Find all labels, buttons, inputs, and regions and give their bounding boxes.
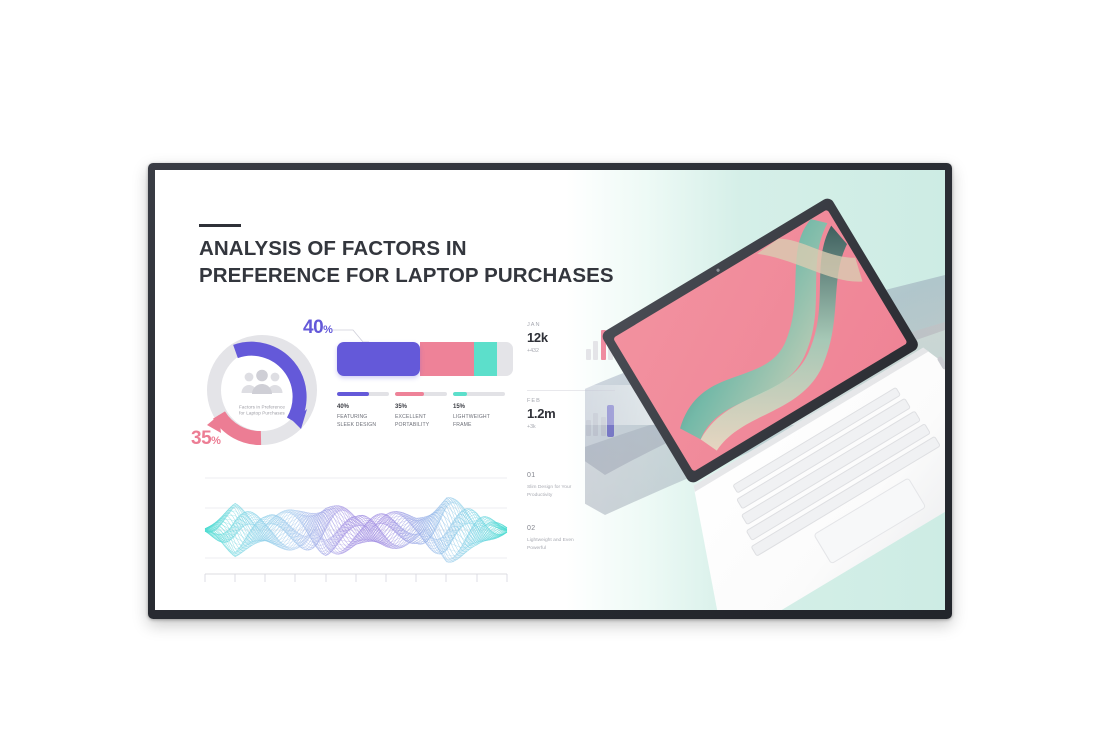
legend-fill (453, 392, 467, 396)
legend-label: LIGHTWEIGHT FRAME (453, 414, 511, 430)
donut-arc-portability (219, 415, 261, 438)
waveform-ticks (205, 574, 507, 582)
legend-percent: 15% (453, 404, 511, 410)
legend-label: FEATURING SLEEK DESIGN (337, 414, 395, 430)
donut-label-40-symbol: % (323, 324, 332, 336)
page-title-line-2: PREFERENCE FOR LAPTOP PURCHASES (199, 263, 619, 290)
legend-label-line-1: LIGHTWEIGHT (453, 414, 511, 422)
monitor-bezel: ANALYSIS OF FACTORS IN PREFERENCE FOR LA… (148, 163, 952, 619)
legend-track (395, 392, 447, 396)
people-group-icon (240, 369, 284, 395)
title-accent-rule (199, 224, 241, 227)
legend-track (453, 392, 505, 396)
legend-track (337, 392, 389, 396)
legend-item-sleek-design: 40% FEATURING SLEEK DESIGN (337, 392, 395, 430)
laptop-illustration (585, 170, 945, 610)
legend-item-portability: 35% EXCELLENT PORTABILITY (395, 392, 453, 430)
waveform-chart-svg (197, 466, 515, 594)
laptop-product-image (585, 170, 945, 610)
donut-center-label: Factors in Preference for Laptop Purchas… (218, 404, 306, 417)
donut-label-40-percent: 40% (303, 317, 332, 339)
stacked-bar-segment-sleek-design (337, 342, 420, 376)
legend-percent: 35% (395, 404, 453, 410)
monitor-screen: ANALYSIS OF FACTORS IN PREFERENCE FOR LA… (155, 170, 945, 610)
presentation-slide: ANALYSIS OF FACTORS IN PREFERENCE FOR LA… (155, 170, 945, 610)
legend-label-line-2: SLEEK DESIGN (337, 422, 395, 430)
legend-label-line-2: FRAME (453, 422, 511, 430)
page-title: ANALYSIS OF FACTORS IN PREFERENCE FOR LA… (199, 236, 619, 289)
donut-label-35-percent: 35% (191, 428, 220, 450)
donut-label-35-symbol: % (211, 435, 220, 447)
legend-label-line-2: PORTABILITY (395, 422, 453, 430)
legend-fill (337, 392, 369, 396)
page-title-line-1: ANALYSIS OF FACTORS IN (199, 236, 619, 263)
legend-item-lightweight-frame: 15% LIGHTWEIGHT FRAME (453, 392, 511, 430)
donut-label-40-value: 40 (303, 317, 323, 338)
legend: 40% FEATURING SLEEK DESIGN 35% EXCELLENT… (337, 392, 513, 430)
legend-label-line-1: EXCELLENT (395, 414, 453, 422)
donut-center-line-2: for Laptop Purchases (218, 411, 306, 418)
legend-percent: 40% (337, 404, 395, 410)
stacked-bar-segment-other (497, 342, 513, 376)
waveform-lines (205, 498, 507, 563)
legend-fill (395, 392, 424, 396)
waveform-chart (197, 466, 515, 594)
legend-label: EXCELLENT PORTABILITY (395, 414, 453, 430)
donut-center-line-1: Factors in Preference (218, 404, 306, 411)
stacked-bar-segment-lightweight (474, 342, 497, 376)
stacked-bar-chart (337, 342, 513, 376)
donut-label-35-value: 35 (191, 428, 211, 449)
stacked-bar-segment-portability (420, 342, 475, 376)
legend-label-line-1: FEATURING (337, 414, 395, 422)
